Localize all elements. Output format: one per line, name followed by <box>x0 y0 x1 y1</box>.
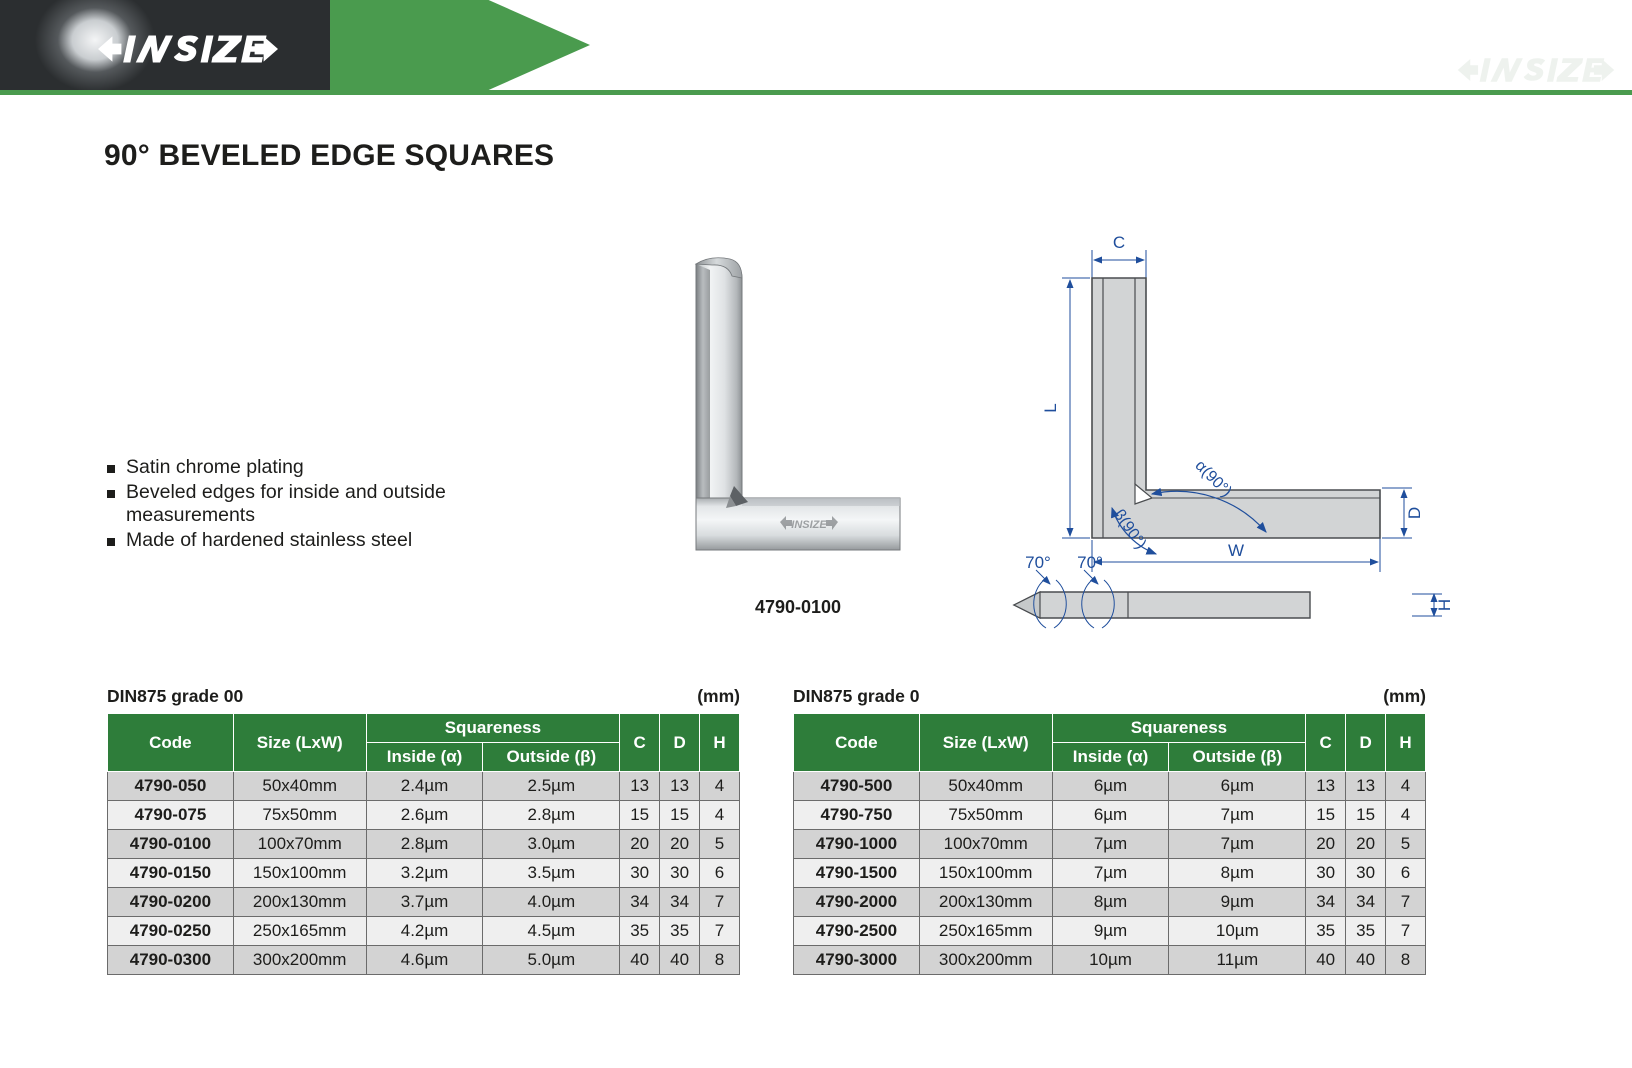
cell-d: 30 <box>1346 859 1386 888</box>
cell-size: 75x50mm <box>919 801 1052 830</box>
cell-outside: 2.8µm <box>483 801 620 830</box>
datasheet-page: 90° BEVELED EDGE SQUARES Satin chrome pl… <box>0 0 1632 1068</box>
cell-d: 15 <box>660 801 700 830</box>
feature-item: Made of hardened stainless steel <box>107 529 527 553</box>
th-inside: Inside (α) <box>1052 743 1169 772</box>
cell-h: 6 <box>700 859 740 888</box>
cell-size: 250x165mm <box>233 917 366 946</box>
table-row[interactable]: 4790-050 50x40mm 2.4µm 2.5µm 13 13 4 <box>108 772 740 801</box>
cell-c: 35 <box>1306 917 1346 946</box>
square-bullet-icon <box>107 538 115 546</box>
cell-inside: 6µm <box>1052 772 1169 801</box>
cell-size: 200x130mm <box>919 888 1052 917</box>
technical-drawing: C L W D H α(90°) β(90°) 70° 70° <box>1000 232 1460 632</box>
cell-c: 30 <box>620 859 660 888</box>
cell-size: 100x70mm <box>233 830 366 859</box>
cell-h: 5 <box>700 830 740 859</box>
table-row[interactable]: 4790-0100 100x70mm 2.8µm 3.0µm 20 20 5 <box>108 830 740 859</box>
cell-c: 40 <box>1306 946 1346 975</box>
table-row[interactable]: 4790-0200 200x130mm 3.7µm 4.0µm 34 34 7 <box>108 888 740 917</box>
cell-outside: 3.0µm <box>483 830 620 859</box>
insize-logo <box>98 28 278 70</box>
table-header-row-1: Code Size (LxW) Squareness C D H <box>108 714 740 743</box>
cell-code: 4790-0100 <box>108 830 234 859</box>
table-row[interactable]: 4790-2500 250x165mm 9µm 10µm 35 35 7 <box>794 917 1426 946</box>
cell-code: 4790-1500 <box>794 859 920 888</box>
th-h: H <box>1386 714 1426 772</box>
table-row[interactable]: 4790-750 75x50mm 6µm 7µm 15 15 4 <box>794 801 1426 830</box>
cell-d: 35 <box>1346 917 1386 946</box>
cell-outside: 6µm <box>1169 772 1306 801</box>
cell-c: 15 <box>1306 801 1346 830</box>
cell-code: 4790-0250 <box>108 917 234 946</box>
feature-text: Made of hardened stainless steel <box>126 529 412 553</box>
square-bullet-icon <box>107 465 115 473</box>
cell-outside: 2.5µm <box>483 772 620 801</box>
th-code: Code <box>794 714 920 772</box>
dim-label-bevel-right: 70° <box>1077 553 1103 572</box>
cell-c: 20 <box>1306 830 1346 859</box>
cell-code: 4790-0200 <box>108 888 234 917</box>
table-row[interactable]: 4790-2000 200x130mm 8µm 9µm 34 34 7 <box>794 888 1426 917</box>
cell-h: 4 <box>1386 801 1426 830</box>
cell-d: 40 <box>1346 946 1386 975</box>
cell-c: 40 <box>620 946 660 975</box>
cell-code: 4790-750 <box>794 801 920 830</box>
cell-d: 34 <box>1346 888 1386 917</box>
cell-outside: 8µm <box>1169 859 1306 888</box>
cell-outside: 5.0µm <box>483 946 620 975</box>
cell-c: 20 <box>620 830 660 859</box>
header-green-rule <box>0 90 1632 95</box>
dim-label-d: D <box>1405 507 1424 519</box>
table-row[interactable]: 4790-1000 100x70mm 7µm 7µm 20 20 5 <box>794 830 1426 859</box>
cell-d: 34 <box>660 888 700 917</box>
cell-d: 13 <box>1346 772 1386 801</box>
cell-code: 4790-0300 <box>108 946 234 975</box>
square-bullet-icon <box>107 490 115 498</box>
cell-size: 100x70mm <box>919 830 1052 859</box>
cell-inside: 9µm <box>1052 917 1169 946</box>
th-d: D <box>660 714 700 772</box>
th-c: C <box>1306 714 1346 772</box>
cell-inside: 3.7µm <box>366 888 483 917</box>
spec-table: Code Size (LxW) Squareness C D H Inside … <box>793 713 1426 975</box>
table-head: Code Size (LxW) Squareness C D H Inside … <box>794 714 1426 772</box>
cell-c: 34 <box>620 888 660 917</box>
cell-d: 30 <box>660 859 700 888</box>
cell-size: 200x130mm <box>233 888 366 917</box>
cell-c: 13 <box>1306 772 1346 801</box>
cell-size: 300x200mm <box>919 946 1052 975</box>
cell-h: 7 <box>1386 888 1426 917</box>
cell-h: 7 <box>700 917 740 946</box>
cell-code: 4790-500 <box>794 772 920 801</box>
cell-inside: 7µm <box>1052 859 1169 888</box>
th-c: C <box>620 714 660 772</box>
product-photo-caption: 4790-0100 <box>688 597 908 618</box>
table-unit-label: (mm) <box>697 686 740 707</box>
cell-inside: 10µm <box>1052 946 1169 975</box>
table-row[interactable]: 4790-500 50x40mm 6µm 6µm 13 13 4 <box>794 772 1426 801</box>
th-h: H <box>700 714 740 772</box>
cell-size: 300x200mm <box>233 946 366 975</box>
dim-label-l: L <box>1041 403 1060 412</box>
cell-d: 15 <box>1346 801 1386 830</box>
cell-code: 4790-3000 <box>794 946 920 975</box>
cell-d: 20 <box>1346 830 1386 859</box>
table-title: DIN875 grade 00 <box>107 686 243 707</box>
th-size: Size (LxW) <box>919 714 1052 772</box>
cell-h: 4 <box>700 772 740 801</box>
cell-code: 4790-075 <box>108 801 234 830</box>
table-row[interactable]: 4790-0250 250x165mm 4.2µm 4.5µm 35 35 7 <box>108 917 740 946</box>
table-body: 4790-050 50x40mm 2.4µm 2.5µm 13 13 4 479… <box>108 772 740 975</box>
th-squareness: Squareness <box>1052 714 1306 743</box>
cell-h: 8 <box>1386 946 1426 975</box>
cell-c: 35 <box>620 917 660 946</box>
feature-item: Beveled edges for inside and outside mea… <box>107 481 527 528</box>
cell-outside: 4.5µm <box>483 917 620 946</box>
cell-size: 250x165mm <box>919 917 1052 946</box>
cell-h: 8 <box>700 946 740 975</box>
cell-inside: 4.2µm <box>366 917 483 946</box>
cell-d: 13 <box>660 772 700 801</box>
cell-code: 4790-2500 <box>794 917 920 946</box>
cross-section-view <box>1014 570 1310 628</box>
feature-item: Satin chrome plating <box>107 456 527 480</box>
table-unit-label: (mm) <box>1383 686 1426 707</box>
cell-outside: 7µm <box>1169 830 1306 859</box>
cell-inside: 8µm <box>1052 888 1169 917</box>
table-row[interactable]: 4790-0150 150x100mm 3.2µm 3.5µm 30 30 6 <box>108 859 740 888</box>
cell-inside: 2.6µm <box>366 801 483 830</box>
table-caption-row: DIN875 grade 0 (mm) <box>793 686 1426 707</box>
svg-text:INSIZE: INSIZE <box>791 519 827 531</box>
spec-table-grade-0: DIN875 grade 0 (mm) Code Size (LxW) Squa… <box>793 686 1426 975</box>
table-row[interactable]: 4790-1500 150x100mm 7µm 8µm 30 30 6 <box>794 859 1426 888</box>
spec-table-grade-00: DIN875 grade 00 (mm) Code Size (LxW) Squ… <box>107 686 740 975</box>
feature-text: Beveled edges for inside and outside mea… <box>126 481 527 528</box>
cell-d: 40 <box>660 946 700 975</box>
th-code: Code <box>108 714 234 772</box>
table-header-row-1: Code Size (LxW) Squareness C D H <box>794 714 1426 743</box>
cell-outside: 3.5µm <box>483 859 620 888</box>
product-photo: INSIZE <box>688 250 908 580</box>
cell-outside: 9µm <box>1169 888 1306 917</box>
cell-h: 4 <box>700 801 740 830</box>
cell-inside: 7µm <box>1052 830 1169 859</box>
dim-label-w: W <box>1228 541 1244 560</box>
cell-inside: 3.2µm <box>366 859 483 888</box>
table-row[interactable]: 4790-0300 300x200mm 4.6µm 5.0µm 40 40 8 <box>108 946 740 975</box>
cell-inside: 2.8µm <box>366 830 483 859</box>
feature-list: Satin chrome plating Beveled edges for i… <box>107 456 527 553</box>
cell-size: 150x100mm <box>233 859 366 888</box>
cell-inside: 2.4µm <box>366 772 483 801</box>
cell-h: 4 <box>1386 772 1426 801</box>
th-outside: Outside (β) <box>1169 743 1306 772</box>
cell-inside: 6µm <box>1052 801 1169 830</box>
cell-h: 7 <box>700 888 740 917</box>
table-caption-row: DIN875 grade 00 (mm) <box>107 686 740 707</box>
dim-label-bevel-left: 70° <box>1025 553 1051 572</box>
table-head: Code Size (LxW) Squareness C D H Inside … <box>108 714 740 772</box>
cell-size: 50x40mm <box>233 772 366 801</box>
th-squareness: Squareness <box>366 714 620 743</box>
cell-outside: 4.0µm <box>483 888 620 917</box>
cell-size: 75x50mm <box>233 801 366 830</box>
insize-watermark-logo <box>1446 52 1626 88</box>
th-outside: Outside (β) <box>483 743 620 772</box>
feature-text: Satin chrome plating <box>126 456 304 480</box>
table-row[interactable]: 4790-3000 300x200mm 10µm 11µm 40 40 8 <box>794 946 1426 975</box>
table-row[interactable]: 4790-075 75x50mm 2.6µm 2.8µm 15 15 4 <box>108 801 740 830</box>
th-size: Size (LxW) <box>233 714 366 772</box>
cell-d: 35 <box>660 917 700 946</box>
th-inside: Inside (α) <box>366 743 483 772</box>
page-header <box>0 0 1632 97</box>
table-title: DIN875 grade 0 <box>793 686 919 707</box>
page-title: 90° BEVELED EDGE SQUARES <box>104 139 554 173</box>
cell-outside: 11µm <box>1169 946 1306 975</box>
dim-label-h: H <box>1435 599 1454 611</box>
cell-c: 15 <box>620 801 660 830</box>
table-body: 4790-500 50x40mm 6µm 6µm 13 13 4 4790-75… <box>794 772 1426 975</box>
cell-h: 5 <box>1386 830 1426 859</box>
cell-size: 150x100mm <box>919 859 1052 888</box>
cell-h: 7 <box>1386 917 1426 946</box>
cell-inside: 4.6µm <box>366 946 483 975</box>
cell-h: 6 <box>1386 859 1426 888</box>
cell-code: 4790-1000 <box>794 830 920 859</box>
cell-code: 4790-2000 <box>794 888 920 917</box>
spec-table: Code Size (LxW) Squareness C D H Inside … <box>107 713 740 975</box>
cell-code: 4790-0150 <box>108 859 234 888</box>
cell-outside: 7µm <box>1169 801 1306 830</box>
th-d: D <box>1346 714 1386 772</box>
cell-c: 34 <box>1306 888 1346 917</box>
dim-label-c: C <box>1113 233 1125 252</box>
cell-d: 20 <box>660 830 700 859</box>
cell-c: 13 <box>620 772 660 801</box>
cell-c: 30 <box>1306 859 1346 888</box>
cell-size: 50x40mm <box>919 772 1052 801</box>
cell-outside: 10µm <box>1169 917 1306 946</box>
cell-code: 4790-050 <box>108 772 234 801</box>
